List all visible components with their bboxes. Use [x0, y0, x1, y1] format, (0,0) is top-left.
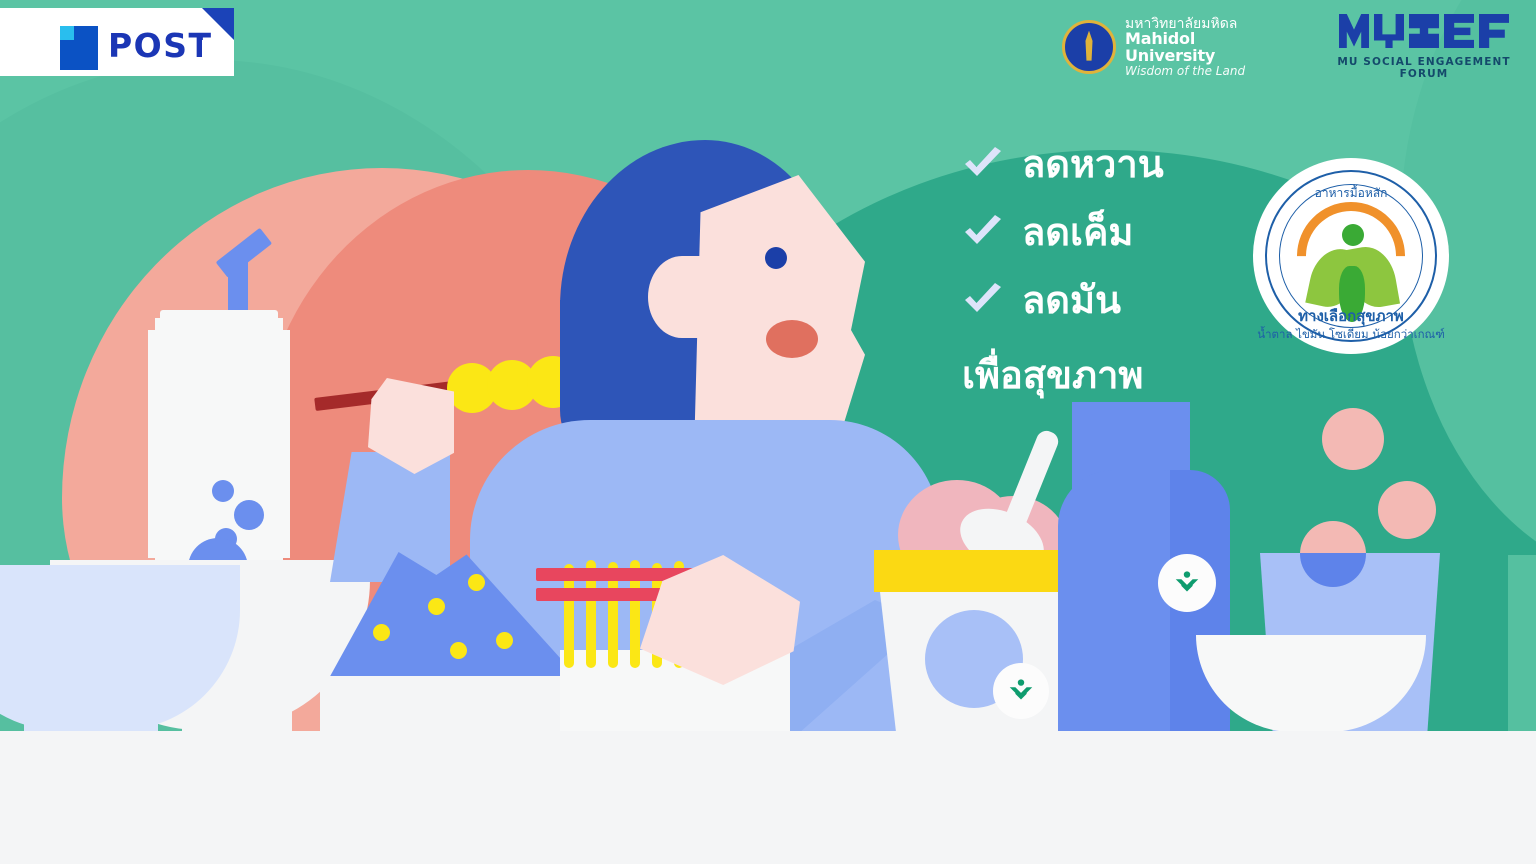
seal-middle-text: ทางเลือกสุขภาพ	[1253, 304, 1449, 328]
musef-logo[interactable]: MU SOCIAL ENGAGEMENT FORUM	[1320, 14, 1528, 76]
rice-topping	[428, 598, 445, 615]
post-logo-text: POST	[108, 24, 213, 68]
mahidol-tagline: Wisdom of the Land	[1125, 65, 1280, 78]
seal-top-text: อาหารมื้อหลัก	[1253, 184, 1449, 203]
poster-canvas: POST มหาวิทยาลัยมหิดล Mahidol University…	[0, 0, 1536, 864]
person-ear	[648, 256, 716, 338]
healthier-choice-icon	[1172, 568, 1202, 598]
background-green-strip-outer	[1508, 555, 1536, 731]
check-icon	[962, 147, 1004, 181]
bubble-circle-mid	[1378, 481, 1436, 539]
rice-topping	[468, 574, 485, 591]
healthy-badge-cup	[993, 663, 1049, 719]
musef-letter-u	[1374, 14, 1404, 48]
seal-figure-head-icon	[1342, 224, 1364, 246]
rice-topping	[496, 632, 513, 649]
post-logo[interactable]: POST	[0, 8, 234, 76]
post-logo-fold-fill	[202, 40, 234, 76]
claim-label: ลดหวาน	[1022, 145, 1164, 183]
check-icon	[962, 283, 1004, 317]
hero-illustration	[0, 0, 1536, 731]
claim-item-reduce-salt: ลดเค็ม	[962, 208, 1252, 256]
health-claims-list: ลดหวาน ลดเค็ม ลดมัน เพื่อสุขภาพ	[962, 140, 1252, 405]
musef-letter-f	[1479, 14, 1509, 48]
claim-label: ลดมัน	[1022, 281, 1121, 319]
rice-topping	[450, 642, 467, 659]
musef-mark-icon	[1320, 14, 1528, 52]
mahidol-logo-text: มหาวิทยาลัยมหิดล Mahidol University Wisd…	[1125, 17, 1280, 78]
claim-footer-label: เพื่อสุขภาพ	[962, 344, 1252, 405]
seal-bottom-text: น้ำตาล ไขมัน โซเดียม น้อยกว่าเกณฑ์	[1253, 326, 1449, 344]
mahidol-university-logo[interactable]: มหาวิทยาลัยมหิดล Mahidol University Wisd…	[1062, 16, 1280, 78]
claim-label: ลดเค็ม	[1022, 213, 1133, 251]
yogurt-cup-label	[874, 550, 1084, 592]
bowl-blue-left-foot	[24, 690, 158, 731]
healthier-choice-seal: อาหารมื้อหลัก ทางเลือกสุขภาพ น้ำตาล ไขมั…	[1253, 158, 1449, 354]
musef-letter-s	[1409, 14, 1439, 48]
mahidol-seal-icon	[1062, 20, 1116, 74]
mahidol-english-name: Mahidol University	[1125, 31, 1280, 65]
rice-plate	[320, 676, 592, 731]
document-icon-corner	[60, 26, 74, 40]
healthier-choice-icon	[1006, 676, 1036, 706]
claim-item-reduce-fat: ลดมัน	[962, 276, 1252, 324]
soda-bubble-large	[234, 500, 264, 530]
musef-letter-e	[1444, 14, 1474, 48]
check-icon	[962, 215, 1004, 249]
person-eye	[765, 247, 787, 269]
healthy-badge-bottle	[1158, 554, 1216, 612]
rice-topping	[373, 624, 390, 641]
person-mouth	[766, 320, 818, 358]
musef-subtitle: MU SOCIAL ENGAGEMENT FORUM	[1320, 56, 1528, 80]
claim-item-reduce-sugar: ลดหวาน	[962, 140, 1252, 188]
soda-bubble-small	[212, 480, 234, 502]
musef-letter-m	[1339, 14, 1369, 48]
bubble-circle-top	[1322, 408, 1384, 470]
